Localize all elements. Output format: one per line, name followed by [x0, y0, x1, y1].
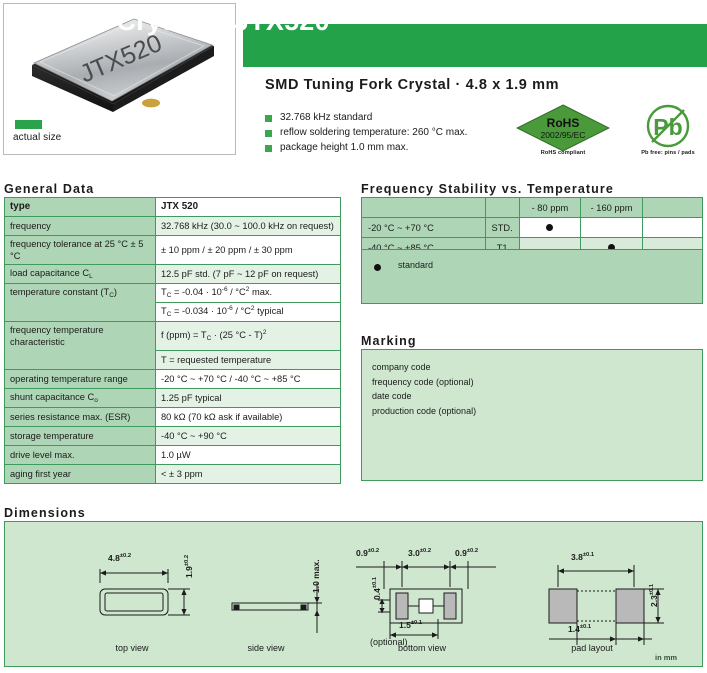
row-label: load capacitance CL [5, 265, 156, 284]
row-value: -20 °C ~ +70 °C / -40 °C ~ +85 °C [156, 369, 341, 388]
row-label: frequency tolerance at 25 °C ± 5 °C [5, 236, 156, 265]
page-title: Quartz Crystal · JTX520 [22, 6, 330, 37]
caption-pad-layout: pad layout [552, 643, 632, 653]
dim-top-height: 1.9±0.2 [184, 555, 194, 578]
row-label: aging first year [5, 464, 156, 483]
table-row: drive level max. 1.0 µW [5, 445, 341, 464]
table-row: storage temperature -40 °C ~ +90 °C [5, 426, 341, 445]
marking-item-list: company code frequency code (optional) d… [372, 360, 476, 418]
dim-side-height: 1.0 max. [311, 559, 321, 593]
stability-mark-cell [642, 218, 702, 238]
row-label: series resistance max. (ESR) [5, 407, 156, 426]
table-row: frequency 32.768 kHz (30.0 ~ 100.0 kHz o… [5, 217, 341, 236]
bullet-square-icon [265, 115, 272, 122]
temp-range-label: -20 °C ~ +70 °C [362, 218, 486, 238]
dim-bottom-right: 0.9±0.2 [455, 548, 478, 558]
dimensions-unit-note: in mm [655, 653, 695, 667]
grade-code: STD. [485, 218, 519, 238]
row-value: T = requested temperature [156, 350, 341, 369]
row-value: 1.0 µW [156, 445, 341, 464]
legend-label: standard [398, 260, 433, 270]
bullet-text: reflow soldering temperature: 260 °C max… [280, 127, 467, 138]
table-row: frequency temperature characteristic f (… [5, 322, 341, 351]
dim-bottom-inner: 1.5±0.1 [399, 620, 422, 630]
row-label [5, 303, 156, 322]
dim-pad-pitch: 1.4±0.1 [568, 624, 591, 634]
row-value: 12.5 pF std. (7 pF ~ 12 pF on request) [156, 265, 341, 284]
table-row: T = requested temperature [5, 350, 341, 369]
row-value: TC = -0.034 · 10-6 / °C2 typical [156, 303, 341, 322]
dim-bottom-left: 0.9±0.2 [356, 548, 379, 558]
page-subtitle: SMD Tuning Fork Crystal · 4.8 x 1.9 mm [265, 77, 559, 93]
stability-mark-cell [519, 218, 581, 238]
table-row: TC = -0.034 · 10-6 / °C2 typical [5, 303, 341, 322]
column-header-blank [362, 198, 486, 218]
column-header-blank-2 [485, 198, 519, 218]
bullet-square-icon [265, 145, 272, 152]
row-value: ± 10 ppm / ± 20 ppm / ± 30 ppm [156, 236, 341, 265]
table-row: frequency tolerance at 25 °C ± 5 °C ± 10… [5, 236, 341, 265]
dim-pad-span: 3.8±0.1 [571, 552, 594, 562]
table-row: series resistance max. (ESR) 80 kΩ (70 k… [5, 407, 341, 426]
actual-size-label: actual size [13, 132, 61, 143]
row-value: < ± 3 ppm [156, 464, 341, 483]
column-header-80ppm: - 80 ppm [519, 198, 581, 218]
table-row: shunt capacitance Co 1.25 pF typical [5, 388, 341, 407]
side-view-body [232, 603, 308, 610]
actual-size-swatch [15, 120, 42, 129]
row-label: shunt capacitance Co [5, 388, 156, 407]
row-value: -40 °C ~ +90 °C [156, 426, 341, 445]
row-value: TC = -0.04 · 10-6 / °C2 max. [156, 284, 341, 303]
table-row: load capacitance CL 12.5 pF std. (7 pF ~… [5, 265, 341, 284]
table-row: operating temperature range -20 °C ~ +70… [5, 369, 341, 388]
dim-bottom-mid: 3.0±0.2 [408, 548, 431, 558]
row-label: frequency [5, 217, 156, 236]
table-row: aging first year < ± 3 ppm [5, 464, 341, 483]
general-data-table: type JTX 520 frequency 32.768 kHz (30.0 … [4, 197, 341, 484]
row-label: frequency temperature characteristic [5, 322, 156, 351]
row-value: f (ppm) = TC · (25 °C - T)2 [156, 322, 341, 351]
dim-top-width: 4.8±0.2 [108, 553, 131, 563]
row-value: 32.768 kHz (30.0 ~ 100.0 kHz on request) [156, 217, 341, 236]
standard-dot-icon [546, 224, 553, 231]
list-item: company code [372, 360, 476, 375]
row-value: 80 kΩ (70 kΩ ask if available) [156, 407, 341, 426]
dim-bottom-pad-height: 0.4±0.1 [372, 577, 382, 600]
row-value: JTX 520 [156, 198, 341, 217]
row-label: operating temperature range [5, 369, 156, 388]
rohs-badge-icon: RoHS 2002/95/EC [516, 104, 610, 152]
table-row: type JTX 520 [5, 198, 341, 217]
dim-pad-height: 2.3±0.1 [649, 584, 659, 607]
row-label: drive level max. [5, 445, 156, 464]
table-row: temperature constant (TC) TC = -0.04 · 1… [5, 284, 341, 303]
row-label: type [5, 198, 156, 217]
section-heading-stability: Frequency Stability vs. Temperature [361, 182, 614, 196]
list-item: frequency code (optional) [372, 375, 476, 390]
pb-free-badge-icon: Pb [645, 104, 691, 148]
legend-dot-icon [374, 264, 381, 271]
caption-bottom-view: bottom view [382, 643, 462, 653]
stability-legend-box: standard [361, 249, 703, 304]
row-value: 1.25 pF typical [156, 388, 341, 407]
row-label: temperature constant (TC) [5, 284, 156, 303]
row-label [5, 350, 156, 369]
pb-free-caption: Pb free: pins / pads [630, 150, 706, 156]
column-header-empty [642, 198, 702, 218]
rohs-line1-text: RoHS [547, 116, 580, 130]
rohs-caption: RoHS compliant [516, 150, 610, 156]
list-item: date code [372, 389, 476, 404]
section-heading-dimensions: Dimensions [4, 506, 86, 520]
datasheet-page: JTX520 actual size Quartz Crystal · JTX5… [0, 0, 707, 673]
bullet-square-icon [265, 130, 272, 137]
list-item: production code (optional) [372, 404, 476, 419]
table-row: -20 °C ~ +70 °C STD. [362, 218, 703, 238]
section-heading-general-data: General Data [4, 182, 94, 196]
column-header-160ppm: - 160 ppm [581, 198, 643, 218]
caption-side-view: side view [226, 643, 306, 653]
table-row: - 80 ppm - 160 ppm [362, 198, 703, 218]
rohs-line2-text: 2002/95/EC [541, 130, 586, 140]
bullet-text: package height 1.0 mm max. [280, 142, 408, 153]
stability-mark-cell [581, 218, 643, 238]
bullet-text: 32.768 kHz standard [280, 112, 372, 123]
caption-top-view: top view [92, 643, 172, 653]
top-view-inner [105, 593, 163, 611]
section-heading-marking: Marking [361, 334, 417, 348]
row-label: storage temperature [5, 426, 156, 445]
